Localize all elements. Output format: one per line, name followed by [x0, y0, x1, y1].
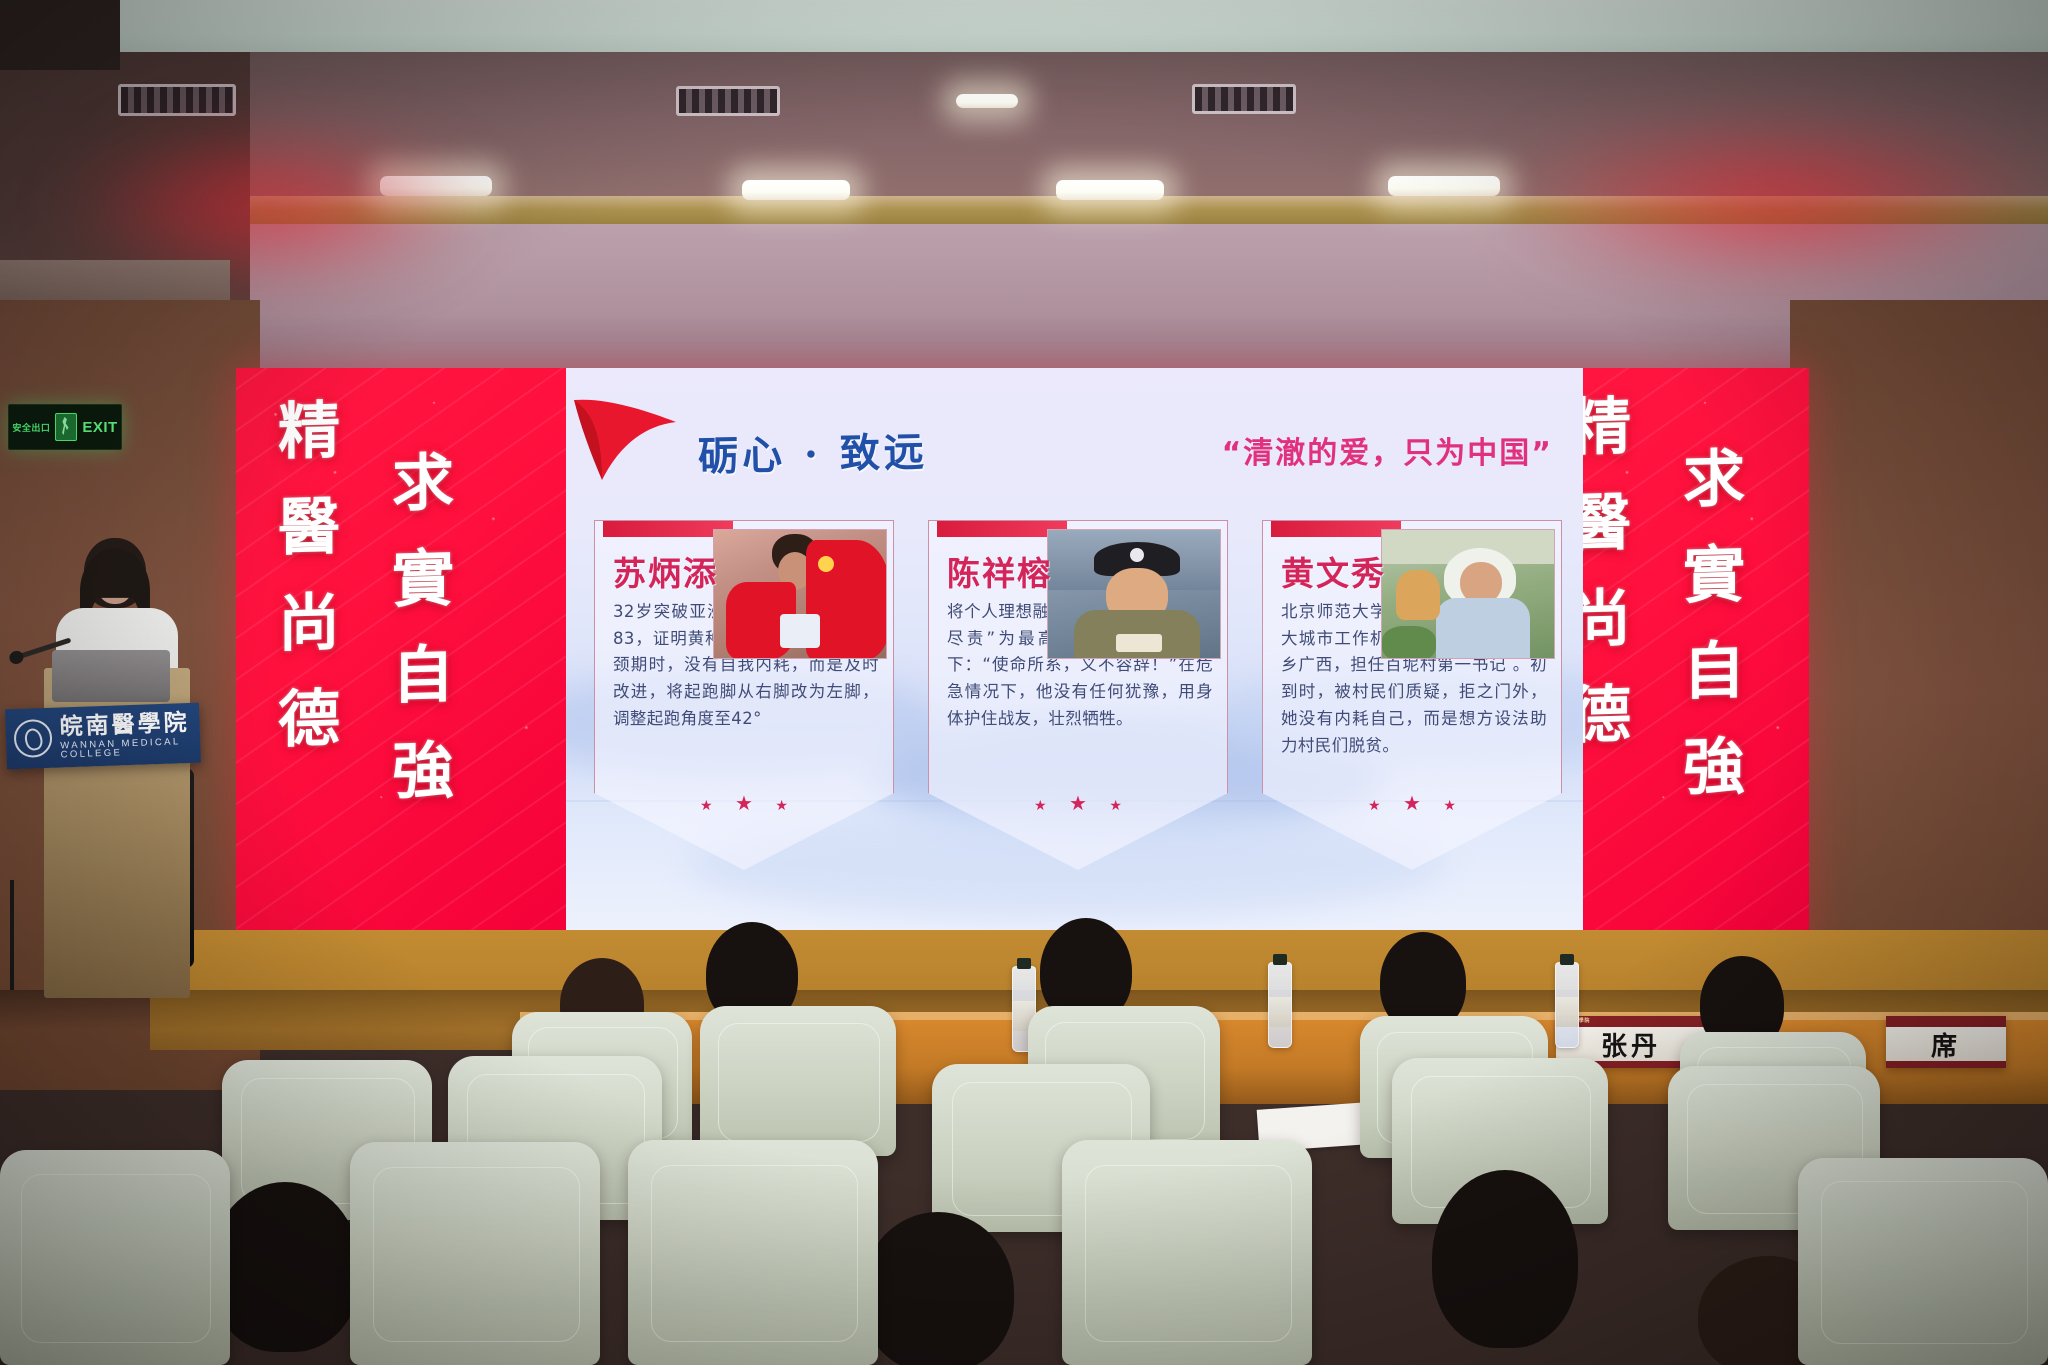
audience-chair [350, 1142, 600, 1365]
placard-name: 席 [1931, 1026, 1961, 1063]
ceiling-vent-3 [1192, 84, 1296, 114]
ceiling-light-5 [956, 94, 1018, 108]
star-icon: ★ [1069, 793, 1087, 815]
card-star-row: ★ ★ ★ [595, 791, 893, 816]
exit-sign-label-en: EXIT [82, 419, 117, 436]
college-name-cn: 皖南醫學院 [59, 710, 192, 738]
ceiling-corner-dark [0, 0, 120, 70]
led-panel-left-red: 精醫尚德 求實自強 [236, 368, 566, 948]
red-light-glow-left [60, 130, 480, 280]
college-logo-icon [13, 719, 52, 758]
audience-chair [700, 1006, 896, 1156]
star-icon: ★ [1034, 797, 1047, 813]
emergency-exit-sign: 安全出口 EXIT [8, 404, 122, 450]
audience-head [210, 1182, 360, 1352]
presentation-slide: 砺心 · 致远 “清澈的爱，只为中国” 苏炳添 [566, 368, 1583, 948]
figure-photo [1047, 529, 1221, 659]
ceiling-vent-1 [118, 84, 236, 116]
figure-card[interactable]: 陈祥榕 将个人理想融入国家边防，以“守土尽责”为最高信念，在日记中写下：“使命所… [928, 520, 1228, 870]
college-name-en: WANNAN MEDICAL COLLEGE [60, 736, 193, 760]
figure-name: 苏炳添 [613, 547, 718, 595]
figure-card[interactable]: 苏炳添 32岁突破亚洲百米极限，用时9秒83，证明黄种人短跑潜能。他在瓶颈期时，… [594, 520, 894, 870]
audience-chair [628, 1140, 878, 1365]
calligraphy-right-line2: 求實自強 [1677, 445, 1739, 831]
figure-name: 陈祥榕 [947, 547, 1052, 595]
led-panel-right-red: 精醫尚德 求實自強 [1549, 368, 1809, 948]
red-flag-icon [572, 396, 692, 482]
figure-photo [1381, 529, 1555, 659]
calligraphy-left-line1: 精醫尚德 [272, 397, 334, 783]
calligraphy-left-line2: 求實自強 [386, 449, 448, 835]
audience-chair [1798, 1158, 2048, 1365]
exit-sign-label-cn: 安全出口 [12, 421, 50, 434]
red-light-glow-right [1500, 120, 2048, 280]
water-bottle [1555, 962, 1579, 1048]
audience-head [862, 1212, 1014, 1365]
slide-subtitle: “清澈的爱，只为中国” [1222, 428, 1553, 472]
star-icon: ★ [700, 797, 713, 813]
star-icon: ★ [775, 797, 788, 813]
water-bottle [1268, 962, 1292, 1048]
star-icon: ★ [1109, 797, 1122, 813]
figure-photo-image [1382, 530, 1554, 658]
ceiling-vent-2 [676, 86, 780, 116]
audience-head [1432, 1170, 1578, 1348]
card-star-row: ★ ★ ★ [1263, 791, 1561, 816]
running-man-icon [55, 413, 77, 441]
figure-card-list: 苏炳添 32岁突破亚洲百米极限，用时9秒83，证明黄种人短跑潜能。他在瓶颈期时，… [594, 520, 1562, 880]
star-icon: ★ [1403, 793, 1421, 815]
placard-name: 张丹 [1601, 1026, 1661, 1063]
audience-chair [1062, 1140, 1312, 1365]
star-icon: ★ [735, 793, 753, 815]
microphone-stand [10, 880, 14, 990]
name-placard: 席 [1886, 1016, 2006, 1068]
ceiling-light-3 [1056, 180, 1164, 200]
lecture-hall-photo: 安全出口 EXIT 精醫尚德 求實自強 精醫尚德 求實自強 [0, 0, 2048, 1365]
laptop-on-lectern [52, 650, 170, 702]
figure-card[interactable]: 黄文秀 北京师范大学哲学硕士毕业，放弃大城市工作机会。主动请缨回到家乡广西，担任… [1262, 520, 1562, 870]
lectern-nameplate: 皖南醫學院 WANNAN MEDICAL COLLEGE [5, 703, 201, 770]
card-star-row: ★ ★ ★ [929, 791, 1227, 816]
ceiling-light-4 [1388, 176, 1500, 196]
ceiling-light-2 [742, 180, 850, 200]
figure-name: 黄文秀 [1281, 547, 1386, 595]
led-display-wall: 精醫尚德 求實自強 精醫尚德 求實自強 砺心 · 致远 “清澈的爱，只为中国” [236, 368, 1809, 948]
figure-photo-image [1048, 530, 1220, 658]
figure-photo-image [714, 530, 886, 658]
star-icon: ★ [1443, 797, 1456, 813]
slide-title: 砺心 · 致远 [697, 420, 928, 483]
audience-chair [0, 1150, 230, 1365]
figure-photo [713, 529, 887, 659]
star-icon: ★ [1368, 797, 1381, 813]
